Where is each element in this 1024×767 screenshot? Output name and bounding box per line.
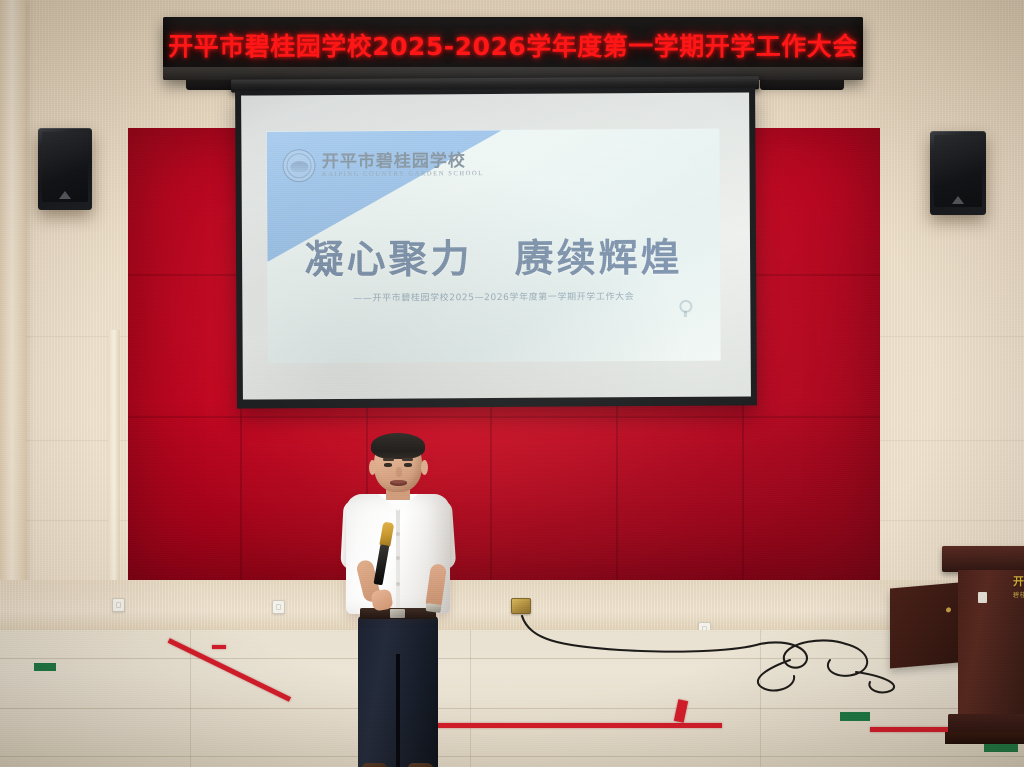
floor-tape-marker-green xyxy=(34,663,56,671)
eyebrow-left xyxy=(383,458,394,461)
screen-frame: 开平市碧桂园学校 KAIPING COUNTRY GARDEN SCHOOL 凝… xyxy=(235,87,757,408)
trouser-seam xyxy=(396,654,400,767)
nose xyxy=(396,467,402,477)
speaker-podium: 开平 碧桂园 xyxy=(948,546,1024,746)
presenter-shoe-right xyxy=(408,763,434,767)
wall-speaker-left xyxy=(38,128,92,210)
podium-plinth xyxy=(945,732,1024,744)
floor-tape-line-center xyxy=(430,723,722,728)
school-name-cn: 开平市碧桂园学校 xyxy=(322,153,484,172)
floor-tape-marker xyxy=(212,645,226,649)
floor-tape-marker-green xyxy=(840,712,870,721)
podium-nameplate-sub: 碧桂园 xyxy=(1013,590,1024,599)
presenter-hair xyxy=(371,433,425,459)
projection-screen: 开平市碧桂园学校 KAIPING COUNTRY GARDEN SCHOOL 凝… xyxy=(231,76,761,411)
podium-switch[interactable] xyxy=(978,592,987,603)
ear-left xyxy=(369,460,376,475)
led-banner-text: 开平市碧桂园学校2025-2026学年度第一学期开学工作大会 xyxy=(168,27,858,63)
presenter xyxy=(338,436,458,767)
eye-right xyxy=(404,463,412,467)
speaker-logo-icon xyxy=(952,196,964,204)
presentation-slide: 开平市碧桂园学校 KAIPING COUNTRY GARDEN SCHOOL 凝… xyxy=(267,129,721,363)
led-bracket-right xyxy=(760,80,844,90)
eyebrow-right xyxy=(402,458,413,461)
eye-left xyxy=(384,463,392,467)
podium-nameplate-cn: 开平 xyxy=(1013,576,1024,588)
circle-watermark-icon xyxy=(679,299,692,312)
presenter-shoe-left xyxy=(362,763,388,767)
slide-subtitle: ——开平市碧桂园学校2025—2026学年度第一学期开学工作大会 xyxy=(268,289,720,305)
belt-buckle xyxy=(390,609,405,618)
wall-column-left xyxy=(0,0,26,640)
mouth xyxy=(390,480,407,486)
slide-title: 凝心聚力 赓续辉煌 xyxy=(267,227,719,286)
school-name-en: KAIPING COUNTRY GARDEN SCHOOL xyxy=(322,170,484,178)
led-banner: 开平市碧桂园学校2025-2026学年度第一学期开学工作大会 xyxy=(163,17,863,80)
speaker-logo-icon xyxy=(59,191,71,199)
podium-top xyxy=(942,546,1024,572)
wall-outlet[interactable] xyxy=(112,598,125,612)
stage-floor xyxy=(0,630,1024,767)
wall-outlet[interactable] xyxy=(272,600,285,614)
auditorium-photo: 开平市碧桂园学校2025-2026学年度第一学期开学工作大会 xyxy=(0,0,1024,767)
school-emblem-icon xyxy=(283,150,316,183)
ear-right xyxy=(421,460,428,475)
podium-body: 开平 碧桂园 xyxy=(958,570,1024,718)
wall-speaker-right xyxy=(930,131,986,215)
screen-surface: 开平市碧桂园学校 KAIPING COUNTRY GARDEN SCHOOL 凝… xyxy=(241,92,751,399)
school-logo: 开平市碧桂园学校 KAIPING COUNTRY GARDEN SCHOOL xyxy=(283,149,484,183)
floor-power-outlet[interactable] xyxy=(511,598,531,614)
